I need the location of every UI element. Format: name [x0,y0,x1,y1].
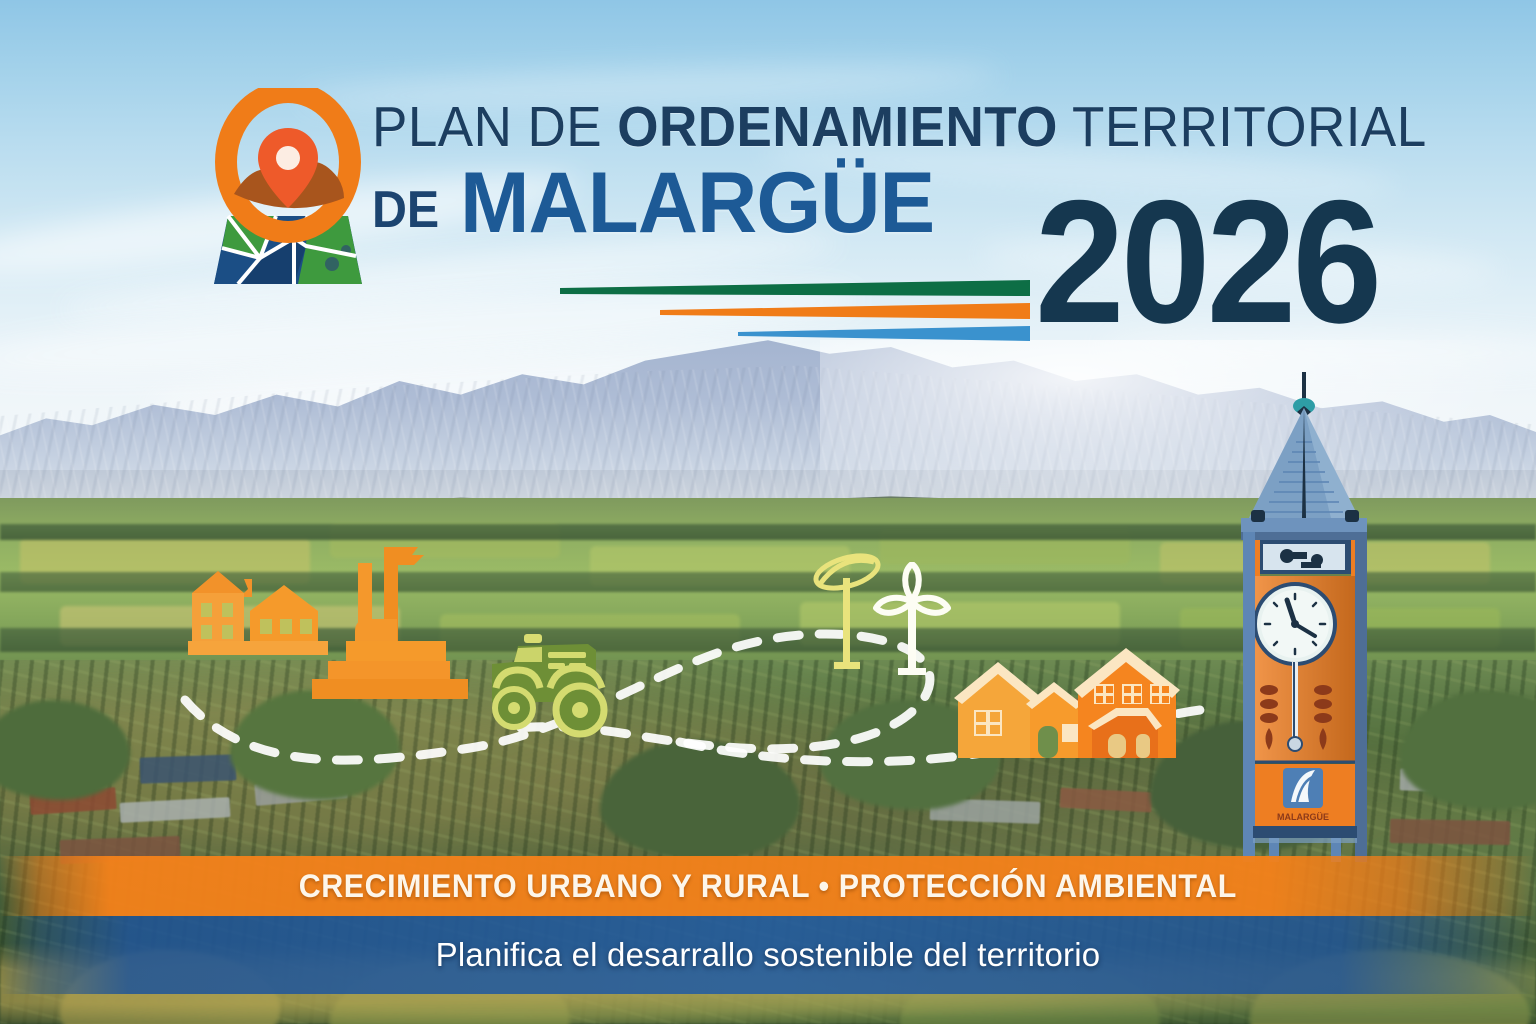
rooftop [140,754,237,783]
poster-root: MALARGÜE [0,0,1536,1024]
title-de: DE [372,180,439,246]
accent-stripes [560,278,1030,346]
title-line-1: PLAN DE ORDENAMIENTO TERRITORIAL [372,96,1358,158]
map-pin-logo [198,88,378,284]
title-ordenamiento: ORDENAMIENTO [617,95,1057,159]
stripe-orange [660,303,1030,319]
secondary-banner: Planifica el desarrallo sostenible del t… [0,916,1536,994]
clock-tower-icon: MALARGÜE [1235,372,1375,862]
poster-header: PLAN DE ORDENAMIENTO TERRITORIAL DE MALA… [0,0,1536,370]
primary-banner: CRECIMIENTO URBANO Y RURAL • PROTECCIÓN … [0,856,1536,916]
stripe-blue [738,326,1030,341]
residential-houses-icon [950,640,1200,768]
stripe-green [560,280,1030,296]
wind-turbine-icon [868,562,956,678]
title-territorial: TERRITORIAL [1058,95,1427,159]
title-malargue: MALARGÜE [460,160,934,246]
factory-icon [170,545,470,705]
primary-banner-text: CRECIMIENTO URBANO Y RURAL • PROTECCIÓN … [299,868,1237,905]
secondary-banner-text: Planifica el desarrallo sostenible del t… [436,936,1101,974]
tower-plaque-text: MALARGÜE [1277,812,1329,822]
title-plan-de: PLAN DE [372,95,617,159]
rooftop [1390,819,1510,845]
title-year: 2026 [1035,175,1378,350]
tractor-icon [470,630,630,740]
